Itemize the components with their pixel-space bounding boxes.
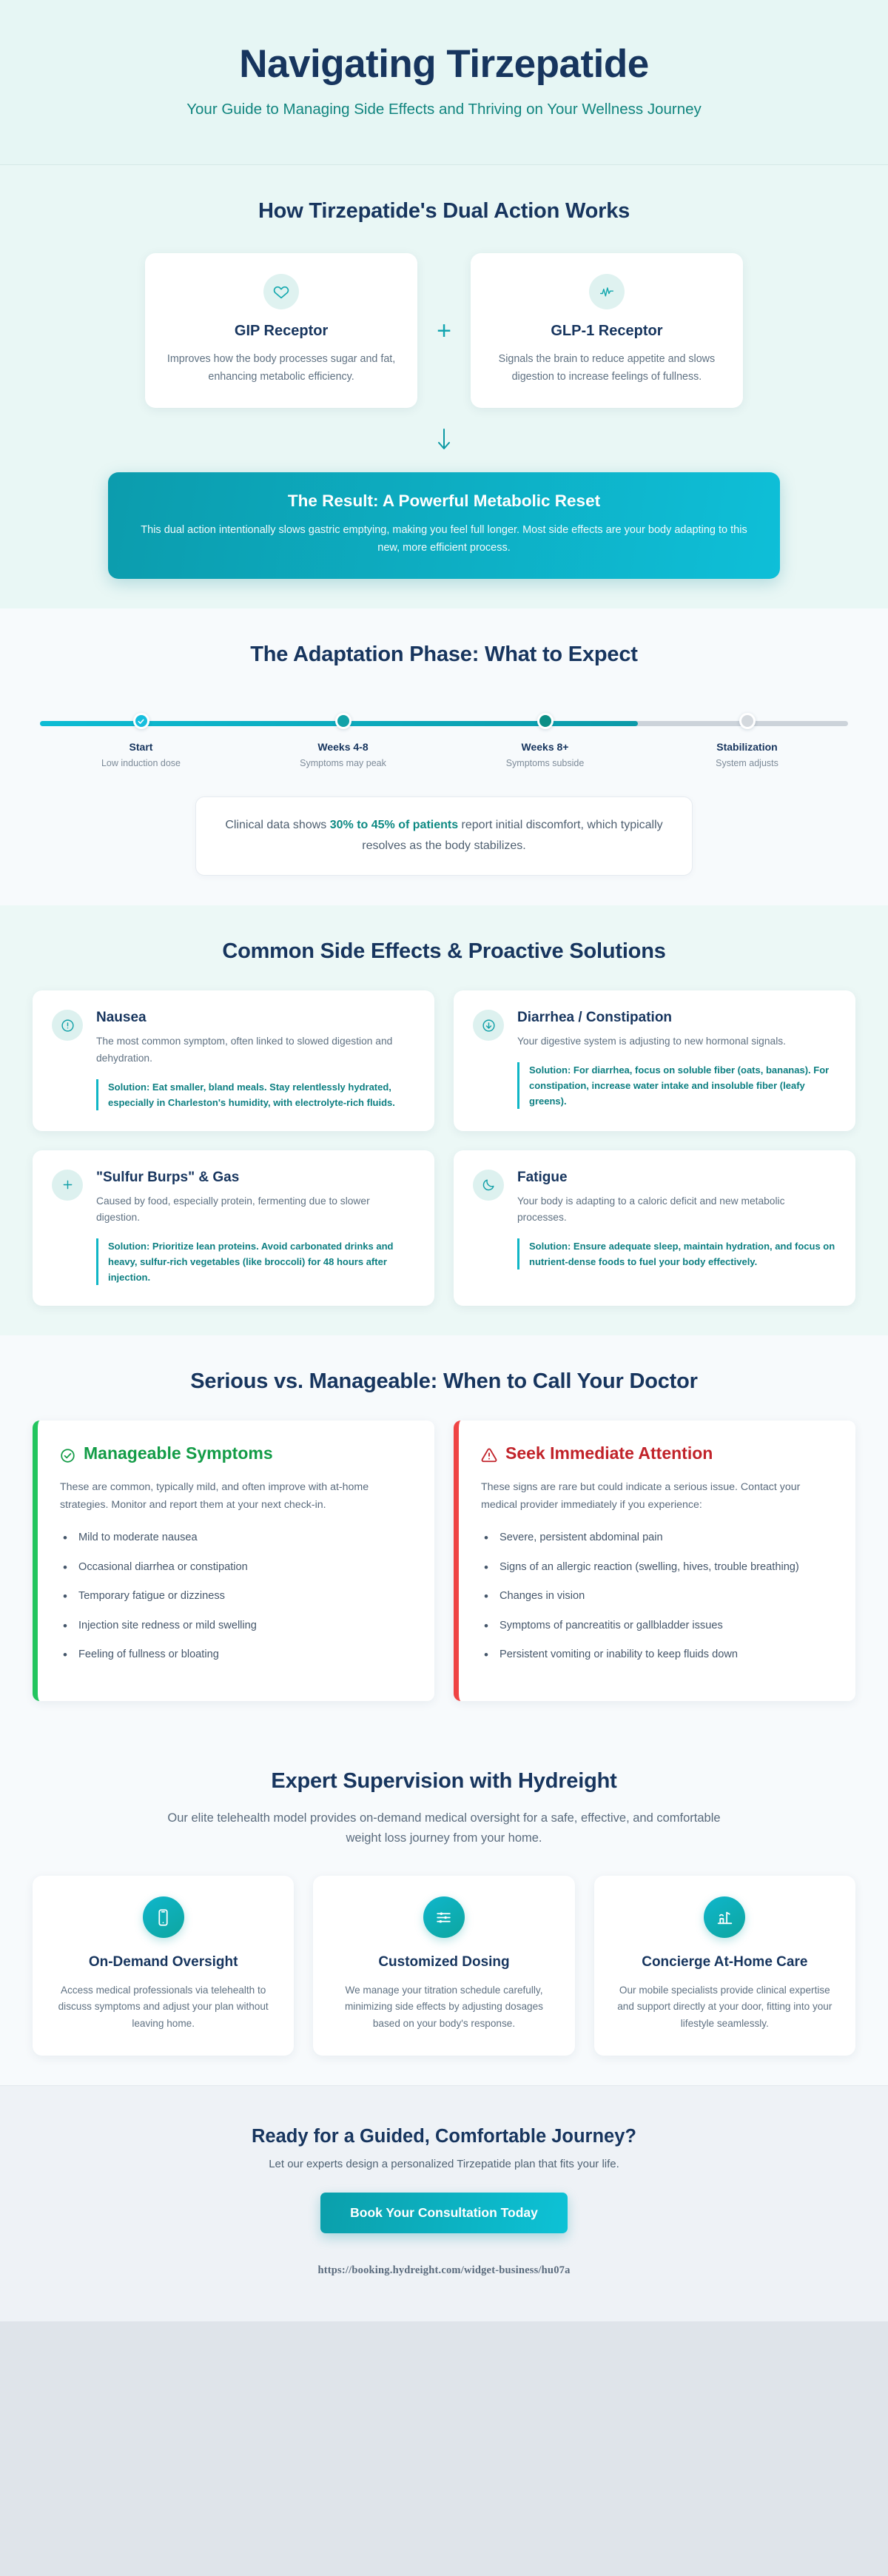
home-care-icon	[704, 1896, 745, 1938]
dual-action-title: How Tirzepatide's Dual Action Works	[30, 199, 858, 224]
cta-lede: Let our experts design a personalized Ti…	[30, 2158, 858, 2170]
feature-name: Concierge At-Home Care	[612, 1953, 838, 1971]
smartphone-icon	[143, 1896, 184, 1938]
plus-wind-icon	[52, 1170, 83, 1201]
timeline-step-weeks-8[interactable]: Weeks 8+Symptoms subside	[444, 700, 646, 768]
urgent-list: Severe, persistent abdominal painSigns o…	[481, 1529, 833, 1663]
urgent-heading: Seek Immediate Attention	[481, 1443, 833, 1468]
receptor-name: GIP Receptor	[164, 323, 398, 340]
booking-url[interactable]: https://booking.hydreight.com/widget-bus…	[30, 2264, 858, 2277]
feature-description: We manage your titration schedule carefu…	[331, 1982, 556, 2033]
list-item: Changes in vision	[481, 1588, 833, 1605]
supervision-subtitle: Our elite telehealth model provides on-d…	[163, 1808, 725, 1848]
feature-name: On-Demand Oversight	[50, 1953, 276, 1971]
receptor-card-gip: GIP Receptor Improves how the body proce…	[145, 253, 417, 408]
comparison-grid: Manageable Symptoms These are common, ty…	[33, 1421, 855, 1701]
timeline-step-weeks-4-8[interactable]: Weeks 4-8Symptoms may peak	[242, 700, 444, 768]
adaptation-title: The Adaptation Phase: What to Expect	[30, 643, 858, 667]
side-effect-card: "Sulfur Burps" & GasCaused by food, espe…	[33, 1150, 434, 1306]
list-item: Occasional diarrhea or constipation	[60, 1559, 412, 1576]
arrow-down-circle-icon	[473, 1010, 504, 1041]
side-effect-solution: Solution: Prioritize lean proteins. Avoi…	[96, 1238, 415, 1285]
plus-operator: +	[437, 318, 451, 343]
timeline-step-start[interactable]: StartLow induction dose	[40, 700, 242, 768]
manageable-description: These are common, typically mild, and of…	[60, 1479, 412, 1515]
side-effect-name: Fatigue	[517, 1170, 836, 1186]
timeline-steps: StartLow induction doseWeeks 4-8Symptoms…	[40, 700, 848, 768]
manageable-list: Mild to moderate nauseaOccasional diarrh…	[60, 1529, 412, 1663]
urgent-description: These signs are rare but could indicate …	[481, 1479, 833, 1515]
hero-header: Navigating Tirzepatide Your Guide to Man…	[0, 0, 888, 165]
cta-title: Ready for a Guided, Comfortable Journey?	[30, 2126, 858, 2147]
list-item: Temporary fatigue or dizziness	[60, 1588, 412, 1605]
check-circle-icon	[60, 1447, 75, 1468]
timeline-label: Weeks 4-8	[242, 741, 444, 753]
timeline-label: Weeks 8+	[444, 741, 646, 753]
timeline-dot	[335, 713, 351, 729]
receptor-description: Signals the brain to reduce appetite and…	[490, 350, 724, 386]
timeline-note: Symptoms may peak	[242, 758, 444, 768]
book-consultation-button[interactable]: Book Your Consultation Today	[320, 2193, 568, 2233]
result-text: This dual action intentionally slows gas…	[138, 521, 750, 557]
supervision-title: Expert Supervision with Hydreight	[30, 1769, 858, 1794]
side-effect-solution: Solution: Ensure adequate sleep, maintai…	[517, 1238, 836, 1269]
side-effect-card: NauseaThe most common symptom, often lin…	[33, 990, 434, 1130]
side-effect-card: FatigueYour body is adapting to a calori…	[454, 1150, 855, 1306]
result-banner: The Result: A Powerful Metabolic Reset T…	[108, 472, 780, 579]
list-item: Signs of an allergic reaction (swelling,…	[481, 1559, 833, 1576]
feature-name: Customized Dosing	[331, 1953, 556, 1971]
manageable-heading-text: Manageable Symptoms	[84, 1443, 273, 1463]
timeline-note: Low induction dose	[40, 758, 242, 768]
list-item: Feeling of fullness or bloating	[60, 1646, 412, 1663]
urgent-heading-text: Seek Immediate Attention	[505, 1443, 713, 1463]
side-effect-solution: Solution: For diarrhea, focus on soluble…	[517, 1062, 836, 1109]
feature-description: Access medical professionals via telehea…	[50, 1982, 276, 2033]
heart-icon	[263, 274, 299, 309]
side-effect-name: Diarrhea / Constipation	[517, 1010, 836, 1026]
sliders-icon	[423, 1896, 465, 1938]
alert-circle-icon	[52, 1010, 83, 1041]
receptor-card-glp1: GLP-1 Receptor Signals the brain to redu…	[471, 253, 743, 408]
comparison-section: Serious vs. Manageable: When to Call You…	[0, 1335, 888, 1731]
alert-triangle-icon	[481, 1447, 497, 1468]
dual-action-section: How Tirzepatide's Dual Action Works GIP …	[0, 165, 888, 608]
receptor-description: Improves how the body processes sugar an…	[164, 350, 398, 386]
supervision-section: Expert Supervision with Hydreight Our el…	[0, 1731, 888, 2085]
comparison-title: Serious vs. Manageable: When to Call You…	[30, 1369, 858, 1394]
manageable-symptoms-card: Manageable Symptoms These are common, ty…	[33, 1421, 434, 1701]
brain-activity-icon	[589, 274, 625, 309]
side-effects-grid: NauseaThe most common symptom, often lin…	[33, 990, 855, 1306]
result-title: The Result: A Powerful Metabolic Reset	[138, 492, 750, 511]
page-title: Navigating Tirzepatide	[30, 43, 858, 86]
infographic-page: Navigating Tirzepatide Your Guide to Man…	[0, 0, 888, 2321]
timeline-label: Start	[40, 741, 242, 753]
side-effect-description: The most common symptom, often linked to…	[96, 1033, 415, 1067]
timeline-dot	[537, 713, 554, 729]
manageable-heading: Manageable Symptoms	[60, 1443, 412, 1468]
moon-icon	[473, 1170, 504, 1201]
side-effect-description: Your body is adapting to a caloric defic…	[517, 1193, 836, 1227]
feature-card: On-Demand OversightAccess medical profes…	[33, 1876, 294, 2056]
side-effects-title: Common Side Effects & Proactive Solution…	[30, 939, 858, 964]
side-effect-solution: Solution: Eat smaller, bland meals. Stay…	[96, 1079, 415, 1110]
side-effect-description: Your digestive system is adjusting to ne…	[517, 1033, 836, 1050]
list-item: Injection site redness or mild swelling	[60, 1617, 412, 1634]
feature-description: Our mobile specialists provide clinical …	[612, 1982, 838, 2033]
receptor-name: GLP-1 Receptor	[490, 323, 724, 340]
page-subtitle: Your Guide to Managing Side Effects and …	[30, 101, 858, 118]
timeline-dot	[133, 713, 149, 729]
timeline-note: System adjusts	[646, 758, 848, 768]
timeline-dot	[739, 713, 756, 729]
side-effect-description: Caused by food, especially protein, ferm…	[96, 1193, 415, 1227]
timeline: StartLow induction doseWeeks 4-8Symptoms…	[40, 700, 848, 768]
timeline-step-stabilization[interactable]: StabilizationSystem adjusts	[646, 700, 848, 768]
list-item: Persistent vomiting or inability to keep…	[481, 1646, 833, 1663]
feature-card: Customized DosingWe manage your titratio…	[313, 1876, 574, 2056]
stat-before: Clinical data shows	[225, 819, 329, 831]
side-effect-card: Diarrhea / ConstipationYour digestive sy…	[454, 990, 855, 1130]
feature-card: Concierge At-Home CareOur mobile special…	[594, 1876, 855, 2056]
urgent-symptoms-card: Seek Immediate Attention These signs are…	[454, 1421, 855, 1701]
stat-highlight: 30% to 45% of patients	[330, 819, 458, 831]
timeline-note: Symptoms subside	[444, 758, 646, 768]
timeline-label: Stabilization	[646, 741, 848, 753]
receptor-row: GIP Receptor Improves how the body proce…	[30, 253, 858, 408]
side-effect-name: Nausea	[96, 1010, 415, 1026]
features-grid: On-Demand OversightAccess medical profes…	[33, 1876, 855, 2056]
side-effects-section: Common Side Effects & Proactive Solution…	[0, 905, 888, 1335]
side-effect-name: "Sulfur Burps" & Gas	[96, 1170, 415, 1186]
down-arrow-icon	[30, 427, 858, 456]
list-item: Severe, persistent abdominal pain	[481, 1529, 833, 1546]
adaptation-section: The Adaptation Phase: What to Expect Sta…	[0, 608, 888, 905]
list-item: Symptoms of pancreatitis or gallbladder …	[481, 1617, 833, 1634]
list-item: Mild to moderate nausea	[60, 1529, 412, 1546]
clinical-data-callout: Clinical data shows 30% to 45% of patien…	[195, 796, 693, 876]
cta-section: Ready for a Guided, Comfortable Journey?…	[0, 2085, 888, 2321]
